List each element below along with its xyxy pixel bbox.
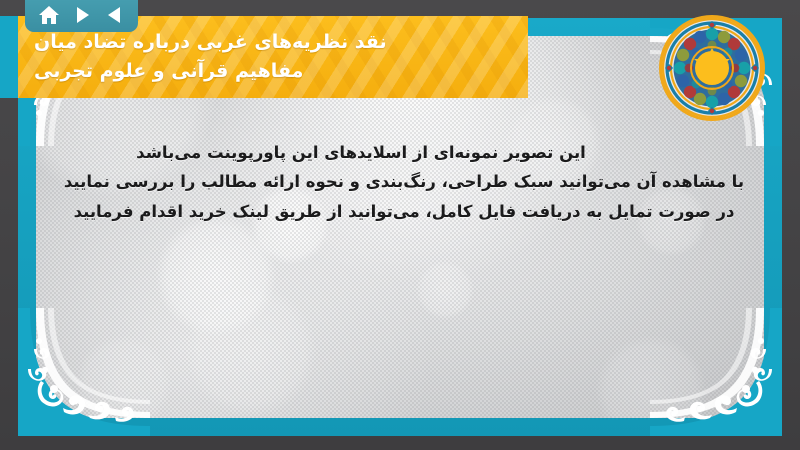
title-line-2: مفاهیم قرآنی و علوم تجربی: [34, 57, 516, 86]
ornamental-medallion: [658, 14, 766, 122]
bokeh-circle: [76, 336, 171, 418]
body-text-block: این تصویر نمونه‌ای از اسلایدهای این پاور…: [60, 138, 748, 226]
home-icon: [38, 5, 60, 25]
slide-canvas: نقد نظریه‌های غربی درباره تضاد میان مفاه…: [0, 0, 800, 450]
title-line-1: نقد نظریه‌های غربی درباره تضاد میان: [34, 28, 516, 57]
body-line-3: در صورت تمایل به دریافت فایل کامل، می‌تو…: [60, 197, 748, 226]
next-button[interactable]: [68, 3, 96, 27]
body-line-1: این تصویر نمونه‌ای از اسلایدهای این پاور…: [60, 138, 748, 167]
bokeh-circle: [186, 286, 316, 416]
prev-button[interactable]: [101, 3, 129, 27]
navigation-bar: [25, 0, 138, 32]
bokeh-circle: [596, 336, 706, 418]
prev-triangle-icon: [105, 5, 125, 25]
bokeh-circle: [156, 216, 276, 336]
home-button[interactable]: [35, 3, 63, 27]
next-triangle-icon: [72, 5, 92, 25]
body-line-2: با مشاهده آن می‌توانید سبک طراحی، رنگ‌بن…: [60, 167, 748, 196]
bokeh-circle: [416, 261, 474, 319]
